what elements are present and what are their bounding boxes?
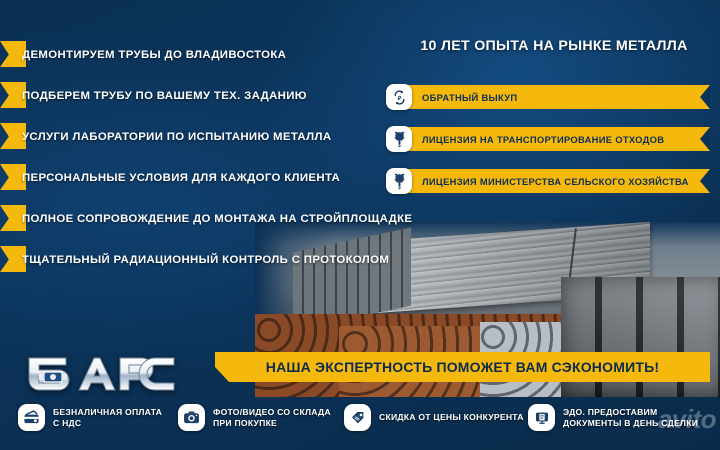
badge-label: ЛИЦЕНЗИЯ МИНИСТЕРСТВА СЕЛЬСКОГО ХОЗЯЙСТВ… [422,176,689,187]
services-list: ДЕМОНТИРУЕМ ТРУБЫ ДО ВЛАДИВОСТОКА ПОДБЕР… [22,34,422,280]
page-title: 10 ЛЕТ ОПЫТА НА РЫНКЕ МЕТАЛЛА [404,38,704,54]
footer-line-1: ФОТО/ВИДЕО СО СКЛАДА [213,407,331,418]
list-item: УСЛУГИ ЛАБОРАТОРИИ ПО ИСПЫТАНИЮ МЕТАЛЛА [22,116,422,157]
list-item: ПЕРСОНАЛЬНЫЕ УСЛОВИЯ ДЛЯ КАЖДОГО КЛИЕНТА [22,157,422,198]
company-logo [22,348,182,392]
bars-pipe-logo-icon [22,348,182,392]
footer-line-2: ПРИ ПОКУПКЕ [213,418,331,429]
double-headed-eagle-icon [386,168,412,194]
footer-item-competitor-discount: % СКИДКА ОТ ЦЕНЫ КОНКУРЕНТА [344,404,524,431]
cta-label: НАША ЭКСПЕРТНОСТЬ ПОМОЖЕТ ВАМ СЭКОНОМИТЬ… [266,359,659,375]
list-item: ТЩАТЕЛЬНЫЙ РАДИАЦИОННЫЙ КОНТРОЛЬ С ПРОТО… [22,239,422,280]
svg-text:%: % [354,416,359,422]
buyback-arrows-icon: ₽ [386,84,412,110]
footer-item-text: СКИДКА ОТ ЦЕНЫ КОНКУРЕНТА [379,412,524,423]
credentials-badge-list: ₽ ОБРАТНЫЙ ВЫКУП ЛИЦЕНЗИЯ НА ТРАНСПОРТИР… [388,85,710,211]
footer-line-1: ЭДО. ПРЕДОСТАВИМ [563,407,698,418]
list-item: ПОДБЕРЕМ ТРУБУ ПО ВАШЕМУ ТЕХ. ЗАДАНИЮ [22,75,422,116]
footer-item-cashless-payment: БЕЗНАЛИЧНАЯ ОПЛАТА С НДС [18,404,162,431]
list-item: ДЕМОНТИРУЕМ ТРУБЫ ДО ВЛАДИВОСТОКА [22,34,422,75]
footer-item-text: ЭДО. ПРЕДОСТАВИМ ДОКУМЕНТЫ В ДЕНЬ СДЕЛКИ [563,407,698,429]
cta-banner[interactable]: НАША ЭКСПЕРТНОСТЬ ПОМОЖЕТ ВАМ СЭКОНОМИТЬ… [215,352,710,382]
footer-line-1: БЕЗНАЛИЧНАЯ ОПЛАТА [53,407,162,418]
camera-icon [178,404,205,431]
list-item: ПОЛНОЕ СОПРОВОЖДЕНИЕ ДО МОНТАЖА НА СТРОЙ… [22,198,422,239]
footer-line-1: СКИДКА ОТ ЦЕНЫ КОНКУРЕНТА [379,412,524,423]
footer-item-edo-documents: ЭДО. ПРЕДОСТАВИМ ДОКУМЕНТЫ В ДЕНЬ СДЕЛКИ [528,404,698,431]
advertisement-banner: ДЕМОНТИРУЕМ ТРУБЫ ДО ВЛАДИВОСТОКА ПОДБЕР… [0,0,720,450]
double-headed-eagle-icon [386,126,412,152]
footer-line-2: С НДС [53,418,162,429]
badge-label: ОБРАТНЫЙ ВЫКУП [422,92,517,103]
svg-text:₽: ₽ [397,94,401,101]
footer-item-text: БЕЗНАЛИЧНАЯ ОПЛАТА С НДС [53,407,162,429]
footer-benefits: БЕЗНАЛИЧНАЯ ОПЛАТА С НДС ФОТО/ВИДЕО СО С… [0,398,720,450]
document-monitor-icon [528,404,555,431]
price-tag-icon: % [344,404,371,431]
badge-agriculture-ministry-license: ЛИЦЕНЗИЯ МИНИСТЕРСТВА СЕЛЬСКОГО ХОЗЯЙСТВ… [388,169,710,193]
badge-buyback: ₽ ОБРАТНЫЙ ВЫКУП [388,85,710,109]
wallet-card-icon [18,404,45,431]
footer-line-2: ДОКУМЕНТЫ В ДЕНЬ СДЕЛКИ [563,418,698,429]
badge-waste-transport-license: ЛИЦЕНЗИЯ НА ТРАНСПОРТИРОВАНИЕ ОТХОДОВ [388,127,710,151]
badge-label: ЛИЦЕНЗИЯ НА ТРАНСПОРТИРОВАНИЕ ОТХОДОВ [422,134,664,145]
footer-item-text: ФОТО/ВИДЕО СО СКЛАДА ПРИ ПОКУПКЕ [213,407,331,429]
footer-item-photo-video: ФОТО/ВИДЕО СО СКЛАДА ПРИ ПОКУПКЕ [178,404,331,431]
